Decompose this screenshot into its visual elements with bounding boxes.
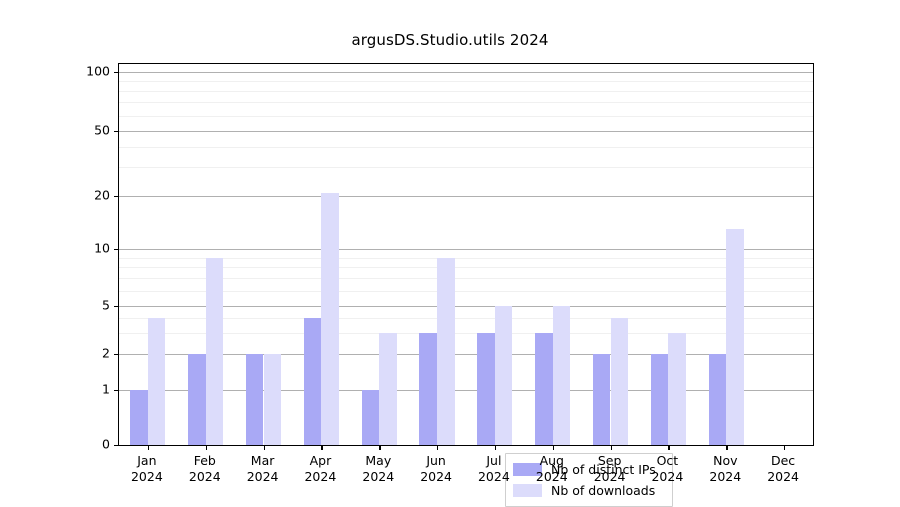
x-axis-tick-label-month: Apr	[304, 453, 336, 469]
x-axis-tick-label-month: Jul	[478, 453, 510, 469]
bar-dls-2	[264, 354, 282, 445]
x-axis-tick-label: Jan2024	[131, 453, 163, 485]
x-axis-tick-label-month: Oct	[651, 453, 683, 469]
x-axis-tick-label-year: 2024	[304, 469, 336, 485]
y-axis-tick	[114, 445, 119, 446]
x-axis-tick-label: Feb2024	[189, 453, 221, 485]
y-axis-tick-label: 2	[102, 346, 110, 361]
bar-ips-0	[130, 390, 148, 445]
x-axis-tick-label-month: Jun	[420, 453, 452, 469]
plot-area: Nb of distinct IPs Nb of downloads	[118, 63, 814, 446]
x-axis-tick-label: Dec2024	[767, 453, 799, 485]
x-axis-tick-label-month: Nov	[709, 453, 741, 469]
x-axis-tick-label-year: 2024	[536, 469, 568, 485]
x-axis-tick-label-year: 2024	[362, 469, 394, 485]
bar-dls-9	[668, 333, 686, 445]
x-axis-tick-label: Mar2024	[247, 453, 279, 485]
bar-dls-10	[726, 229, 744, 445]
x-axis-tick-label-month: Aug	[536, 453, 568, 469]
bar-dls-4	[379, 333, 397, 445]
chart-figure: argusDS.Studio.utils 2024 0125102050100 …	[0, 0, 900, 500]
bar-dls-3	[321, 193, 339, 446]
x-axis-tick-label: May2024	[362, 453, 394, 485]
x-axis-tick-label-year: 2024	[478, 469, 510, 485]
bar-dls-5	[437, 258, 455, 445]
x-axis-tick-label-month: Mar	[247, 453, 279, 469]
bar-ips-8	[593, 354, 611, 445]
x-axis-tick-label-year: 2024	[131, 469, 163, 485]
x-axis-tick-label-month: Sep	[594, 453, 626, 469]
bars-layer	[119, 64, 813, 445]
bar-ips-4	[362, 390, 380, 445]
x-axis-tick-label-month: Dec	[767, 453, 799, 469]
x-axis-tick-label: Nov2024	[709, 453, 741, 485]
y-axis-labels: 0125102050100	[60, 63, 110, 444]
bar-ips-9	[651, 354, 669, 445]
bar-dls-8	[611, 318, 629, 445]
bar-ips-10	[709, 354, 727, 445]
x-axis-tick-label-year: 2024	[767, 469, 799, 485]
y-axis-tick-label: 10	[94, 241, 110, 256]
x-axis-tick-label-year: 2024	[594, 469, 626, 485]
x-axis-tick-label-month: Feb	[189, 453, 221, 469]
x-axis-tick-label: Aug2024	[536, 453, 568, 485]
x-axis-tick-label: Apr2024	[304, 453, 336, 485]
x-axis-tick-label-year: 2024	[709, 469, 741, 485]
chart-title: argusDS.Studio.utils 2024	[0, 31, 900, 49]
bar-dls-6	[495, 306, 513, 445]
bar-dls-1	[206, 258, 224, 445]
y-axis-tick-label: 50	[94, 123, 110, 138]
x-axis-tick-label-year: 2024	[189, 469, 221, 485]
y-axis-tick-label: 5	[102, 298, 110, 313]
x-axis-tick-label-year: 2024	[420, 469, 452, 485]
y-axis-tick-label: 20	[94, 188, 110, 203]
bar-ips-6	[477, 333, 495, 445]
x-axis-labels: Jan2024Feb2024Mar2024Apr2024May2024Jun20…	[118, 449, 812, 497]
x-axis-tick-label: Oct2024	[651, 453, 683, 485]
bar-dls-0	[148, 318, 166, 445]
bar-ips-7	[535, 333, 553, 445]
y-axis-tick-label: 100	[86, 64, 110, 79]
x-axis-tick-label: Sep2024	[594, 453, 626, 485]
bar-dls-7	[553, 306, 571, 445]
bar-ips-5	[419, 333, 437, 445]
bar-ips-1	[188, 354, 206, 445]
x-axis-tick-label-year: 2024	[247, 469, 279, 485]
y-axis-tick-label: 0	[102, 437, 110, 452]
x-axis-tick-label: Jun2024	[420, 453, 452, 485]
bar-ips-2	[246, 354, 264, 445]
x-axis-tick-label-year: 2024	[651, 469, 683, 485]
x-axis-tick-label-month: Jan	[131, 453, 163, 469]
x-axis-tick-label-month: May	[362, 453, 394, 469]
y-axis-tick-label: 1	[102, 382, 110, 397]
x-axis-tick-label: Jul2024	[478, 453, 510, 485]
bar-ips-3	[304, 318, 322, 445]
